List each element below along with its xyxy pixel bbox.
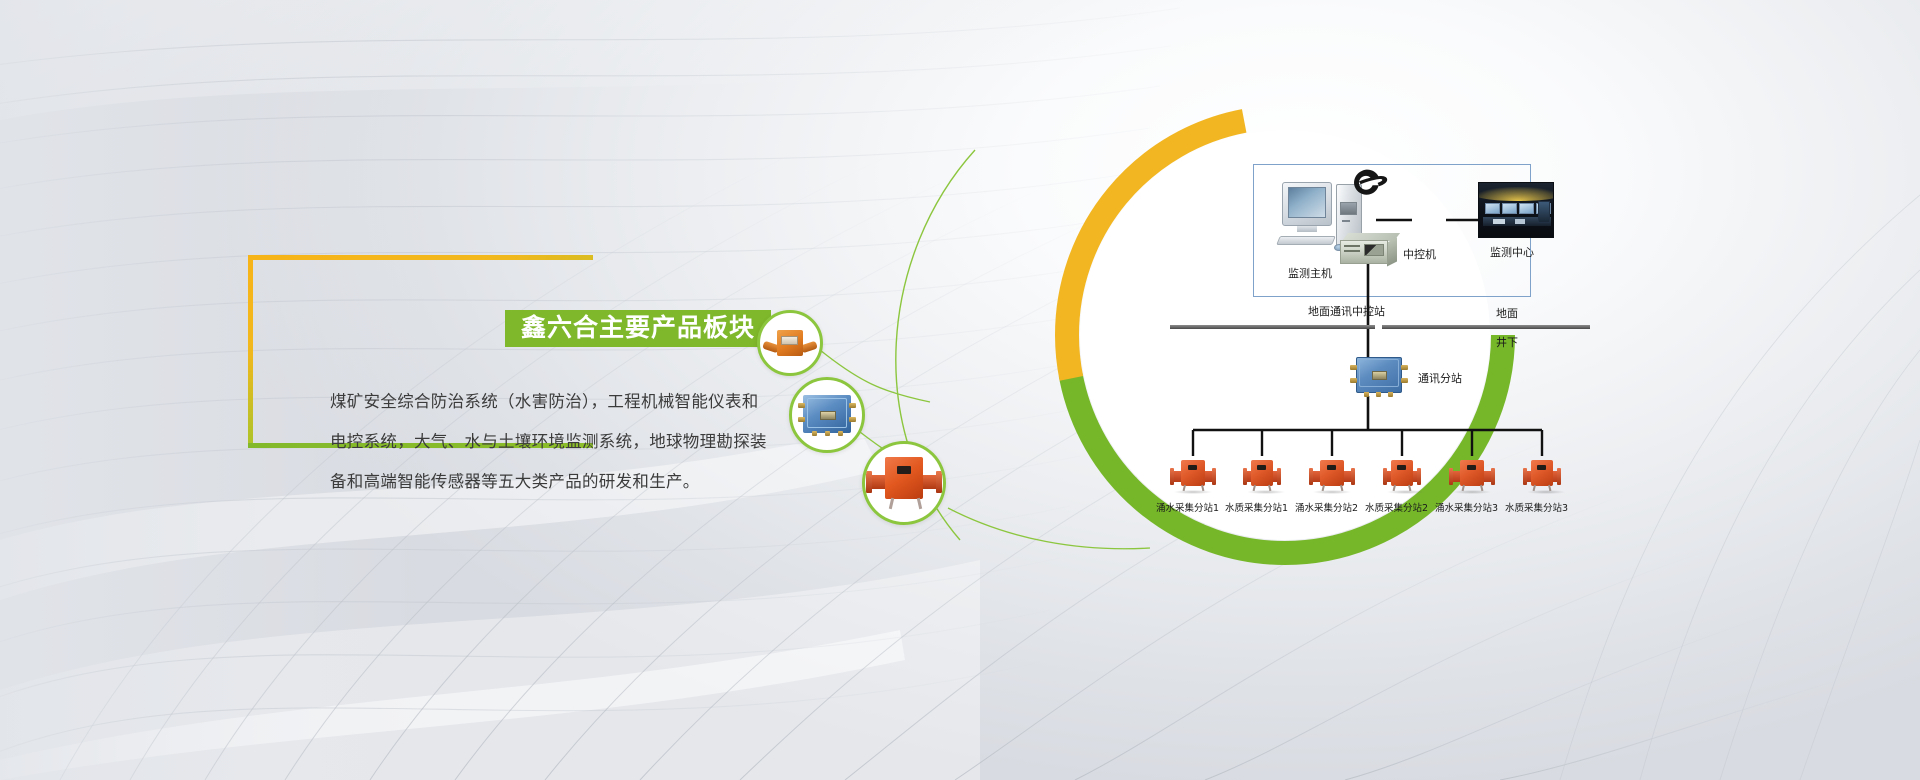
collector-device-3 [1309, 458, 1355, 492]
collector-device-4 [1383, 458, 1421, 492]
label-collector-1: 涌水采集分站1 [1156, 500, 1219, 514]
section-title-bar: 鑫六合主要产品板块 [505, 310, 771, 347]
product-banner: 监测主机 中控机 监测中心 地面通讯中控 [0, 0, 1920, 780]
ground-separator-left [1170, 325, 1375, 329]
collector-device-1 [1170, 458, 1216, 492]
label-collector-3: 涌水采集分站2 [1295, 500, 1358, 514]
label-central-controller: 中控机 [1403, 246, 1436, 262]
blue-junction-box-icon [798, 393, 856, 437]
orange-explosion-proof-device-icon [764, 330, 816, 356]
collector-device-2 [1243, 458, 1281, 492]
label-collector-2: 水质采集分站1 [1225, 500, 1288, 514]
product-bubble-red-flow-meter[interactable] [862, 441, 946, 525]
product-bubble-blue-junction-box[interactable] [789, 377, 865, 453]
label-underground: 井下 [1496, 334, 1518, 350]
label-monitoring-center: 监测中心 [1490, 244, 1534, 260]
red-flow-meter-icon [866, 455, 942, 511]
comm-substation-icon [1350, 354, 1408, 398]
page-title: 鑫六合主要产品板块 [521, 316, 755, 341]
product-bubble-orange-device[interactable] [757, 310, 823, 376]
label-comm-substation: 通讯分站 [1418, 370, 1462, 386]
label-surface: 地面 [1496, 305, 1518, 321]
label-monitor-host: 监测主机 [1288, 265, 1332, 281]
label-collector-6: 水质采集分站3 [1505, 500, 1568, 514]
system-schematic: 监测主机 中控机 监测中心 地面通讯中控 [1160, 128, 1600, 538]
collector-device-6 [1523, 458, 1561, 492]
ground-separator-right [1382, 325, 1590, 329]
collector-device-5 [1449, 458, 1495, 492]
label-collector-5: 涌水采集分站3 [1435, 500, 1498, 514]
central-controller-icon [1340, 233, 1398, 267]
label-collector-4: 水质采集分站2 [1365, 500, 1428, 514]
description-line-3: 备和高端智能传感器等五大类产品的研发和生产。 [330, 462, 890, 502]
diagram-ring-artwork [0, 0, 1920, 780]
monitoring-center-photo [1478, 182, 1554, 238]
internet-e-icon [1348, 167, 1388, 203]
label-ground-station: 地面通讯中控站 [1308, 303, 1385, 319]
